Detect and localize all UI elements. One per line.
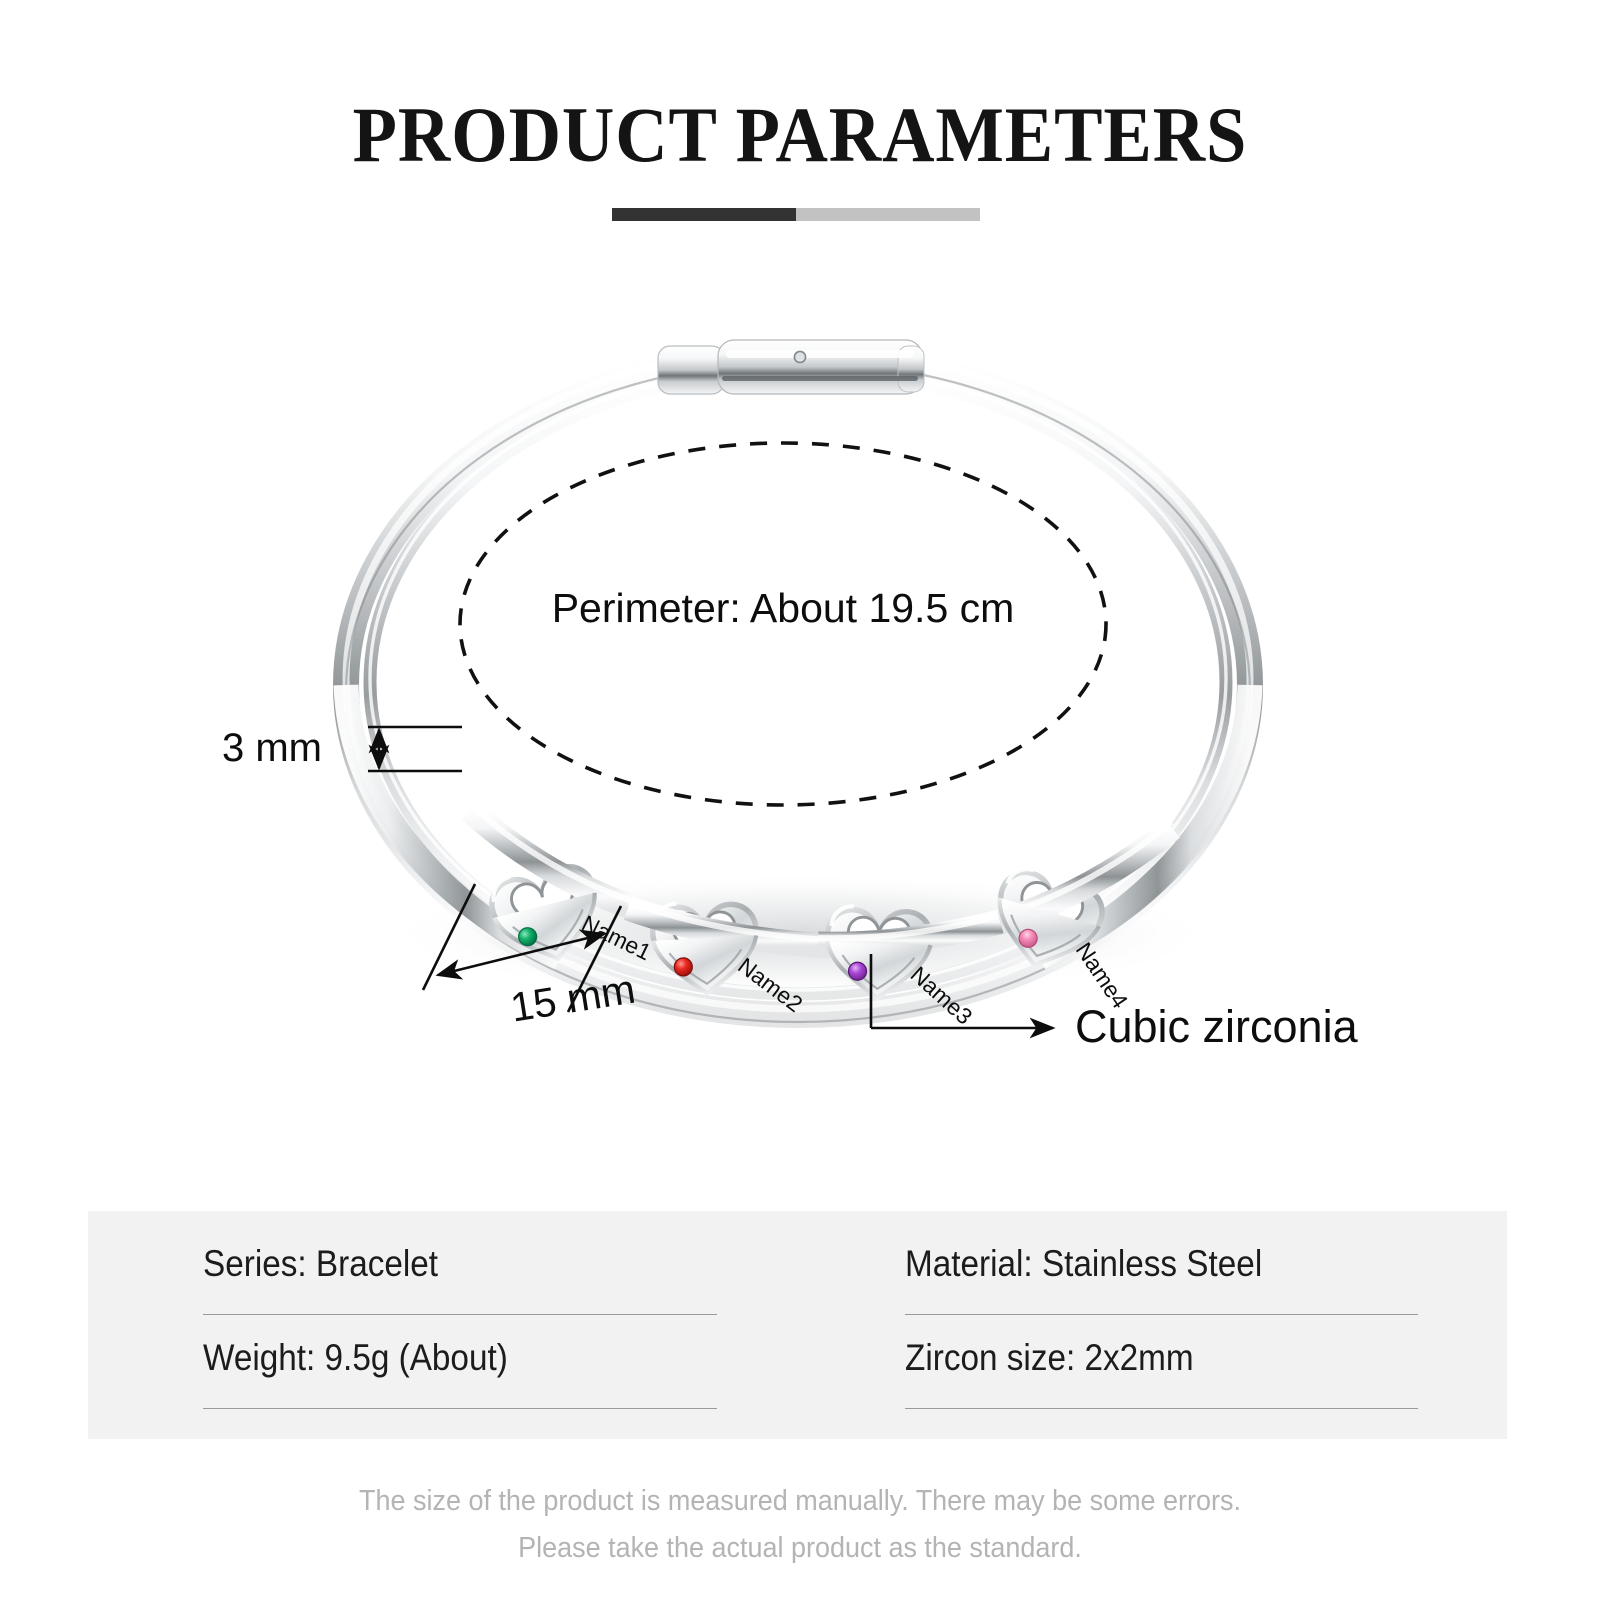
clasp-pin-icon — [794, 351, 805, 362]
spec-rule — [905, 1314, 1419, 1315]
spec-weight-label: Weight: 9.5g (About) — [203, 1337, 665, 1379]
spec-panel: Series: Bracelet Material: Stainless Ste… — [88, 1211, 1507, 1439]
spec-item-material: Material: Stainless Steel — [905, 1231, 1419, 1325]
spec-item-series: Series: Bracelet — [203, 1231, 717, 1325]
thickness-label: 3 mm — [222, 726, 322, 770]
spec-rule — [905, 1408, 1419, 1409]
perimeter-label: Perimeter: About 19.5 cm — [552, 585, 1015, 631]
spec-item-zircon-size: Zircon size: 2x2mm — [905, 1325, 1419, 1419]
divider-light-segment — [796, 208, 980, 221]
bangle-clasp — [658, 340, 924, 394]
spec-series-label: Series: Bracelet — [203, 1243, 665, 1285]
spec-item-weight: Weight: 9.5g (About) — [203, 1325, 717, 1419]
spec-rule — [203, 1314, 717, 1315]
spec-grid: Series: Bracelet Material: Stainless Ste… — [203, 1231, 1418, 1419]
callout-cubic-zirconia-label: Cubic zirconia — [1075, 1001, 1359, 1052]
footnote-line-2: Please take the actual product as the st… — [56, 1525, 1544, 1572]
spec-material-label: Material: Stainless Steel — [905, 1243, 1367, 1285]
footnote-line-1: The size of the product is measured manu… — [56, 1478, 1544, 1525]
spec-zircon-size-label: Zircon size: 2x2mm — [905, 1337, 1367, 1379]
product-parameters-page: PRODUCT PARAMETERS — [0, 0, 1600, 1600]
product-illustration: Perimeter: About 19.5 cm — [0, 290, 1600, 1120]
page-title: PRODUCT PARAMETERS — [56, 96, 1544, 174]
spec-rule — [203, 1408, 717, 1409]
footnote: The size of the product is measured manu… — [0, 1478, 1600, 1572]
divider-dark-segment — [612, 208, 796, 221]
